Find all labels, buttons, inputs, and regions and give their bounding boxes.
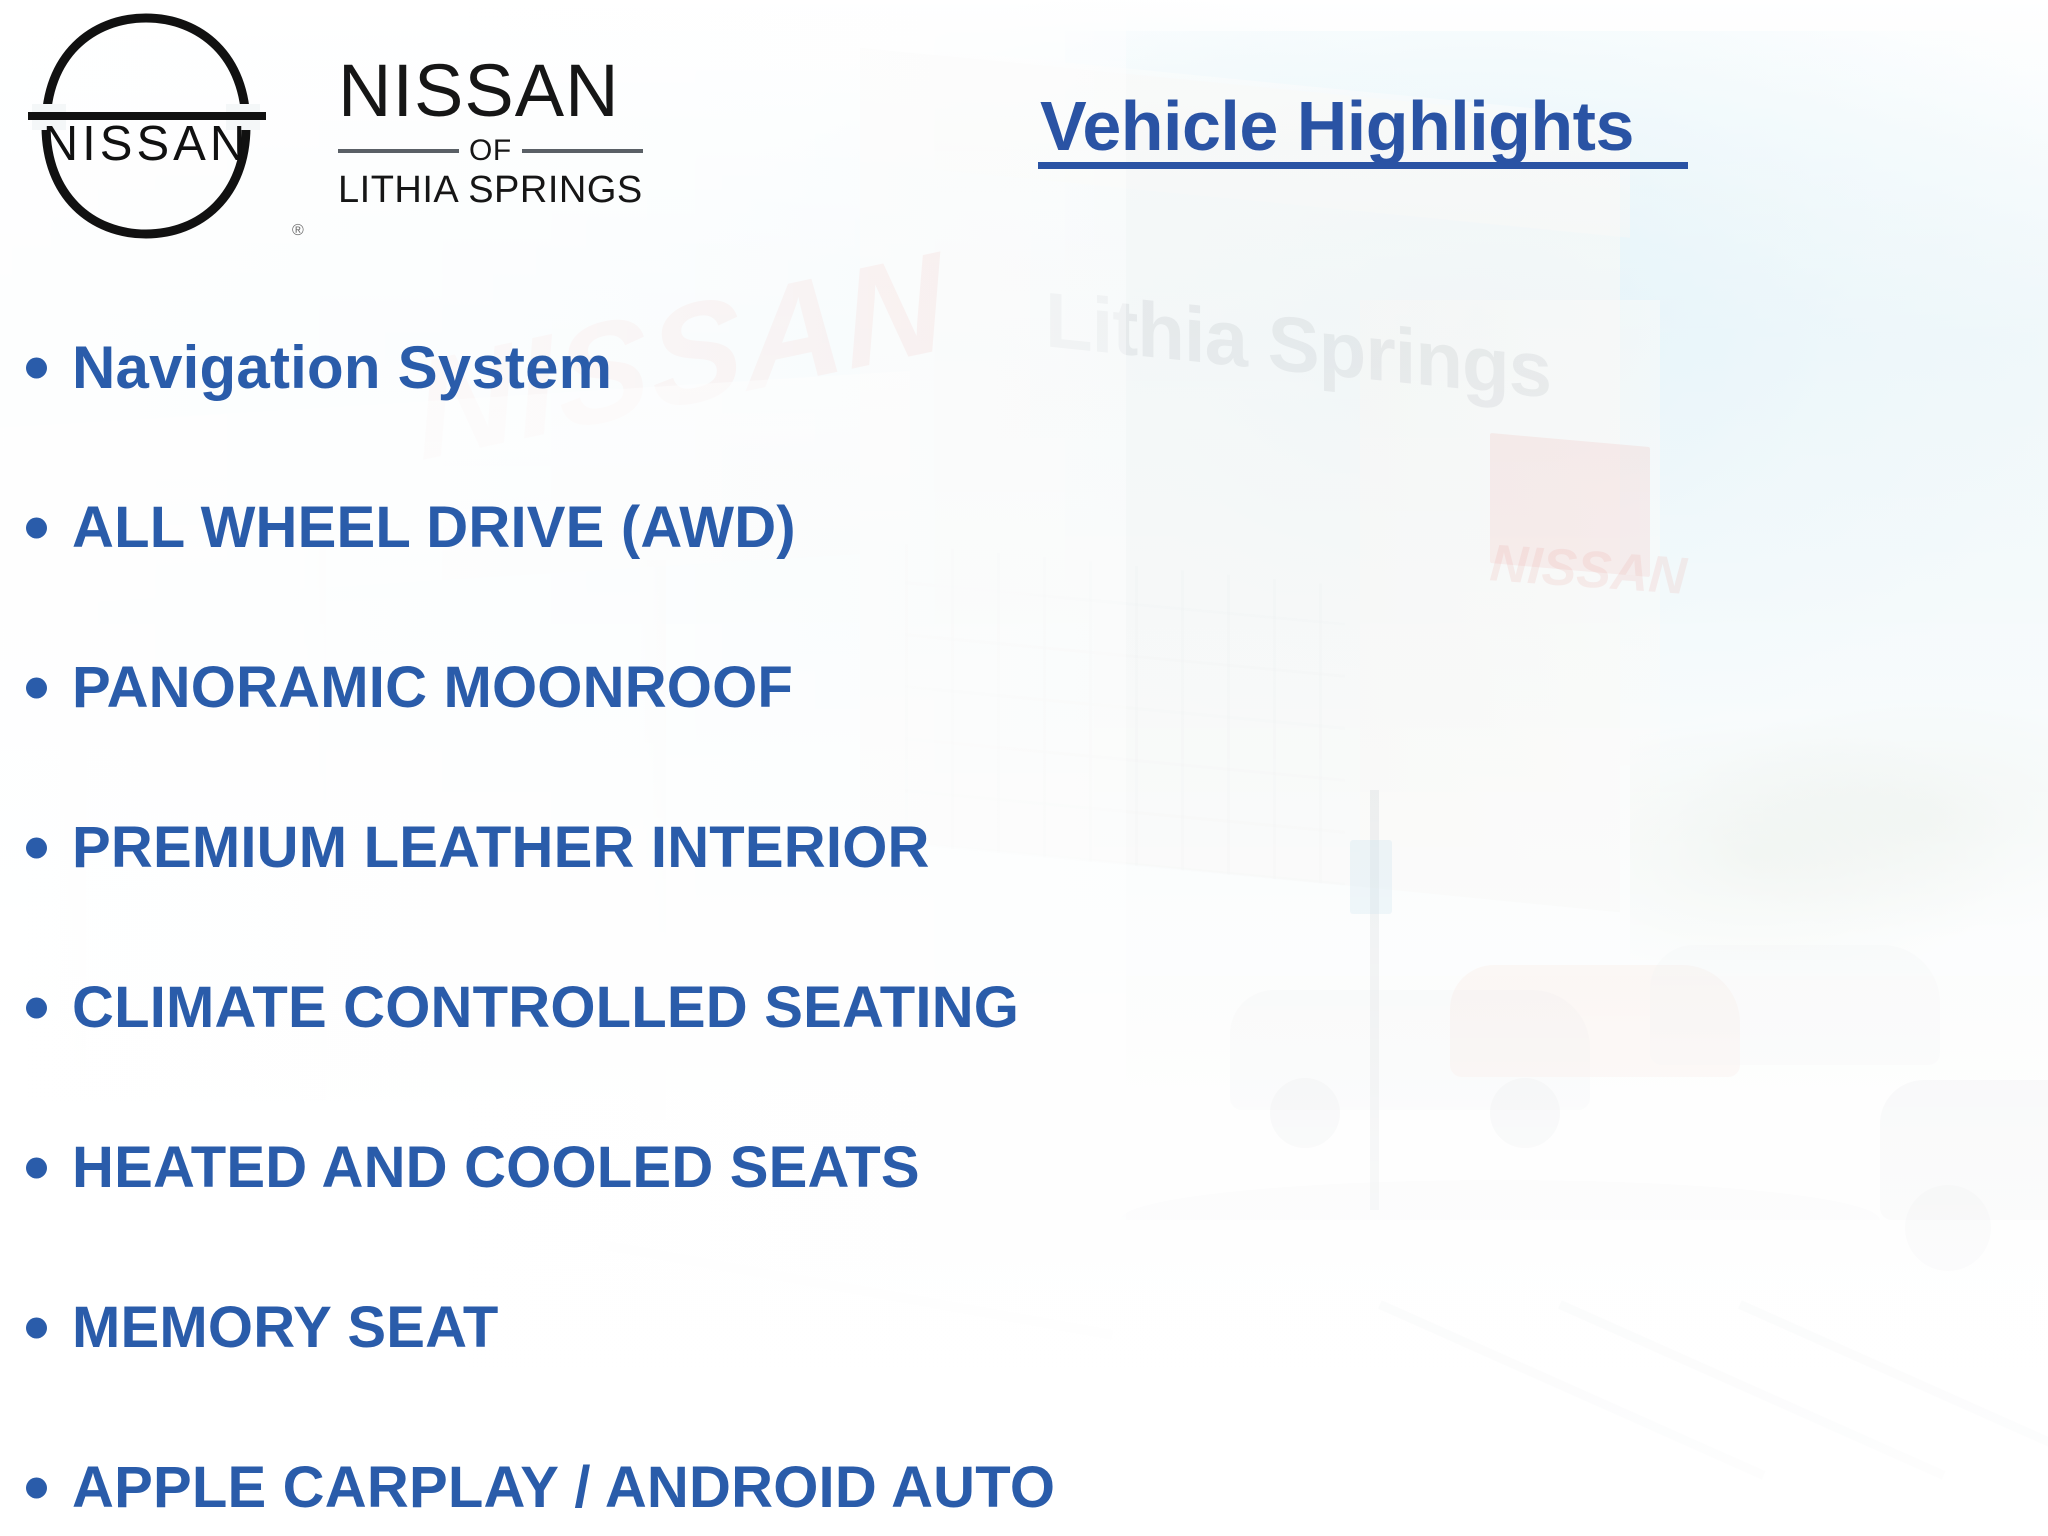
nissan-emblem-icon: NISSAN (24, 8, 324, 243)
highlight-label: HEATED AND COOLED SEATS (72, 1139, 920, 1197)
page-title-underline (1038, 162, 1688, 169)
bullet-icon (26, 1158, 47, 1179)
list-item: MEMORY SEAT (0, 1248, 1450, 1408)
highlight-label: ALL WHEEL DRIVE (AWD) (72, 499, 796, 557)
logo-location-text: LITHIA SPRINGS (338, 171, 643, 209)
list-item: Navigation System (0, 288, 1450, 448)
list-item: CLIMATE CONTROLLED SEATING (0, 928, 1450, 1088)
svg-text:NISSAN: NISSAN (43, 117, 249, 171)
logo-rule-right (522, 149, 643, 153)
highlight-label: Navigation System (72, 338, 612, 398)
highlight-label: PANORAMIC MOONROOF (72, 659, 793, 717)
list-item: APPLE CARPLAY / ANDROID AUTO (0, 1408, 1450, 1536)
highlight-label: PREMIUM LEATHER INTERIOR (72, 819, 930, 877)
bullet-icon (26, 678, 47, 699)
logo-of-row: OF (338, 134, 643, 168)
bullet-icon (26, 518, 47, 539)
bullet-icon (26, 1478, 47, 1499)
vehicle-highlights-slide: Lithia Springs NISSAN NISSAN (0, 0, 2048, 1536)
list-item: PREMIUM LEATHER INTERIOR (0, 768, 1450, 928)
dealer-name-lockup: NISSAN OF LITHIA SPRINGS (338, 56, 643, 208)
logo-brand-text: NISSAN (338, 56, 643, 126)
page-title: Vehicle Highlights (1040, 86, 1634, 166)
list-item: ALL WHEEL DRIVE (AWD) (0, 448, 1450, 608)
vehicle-highlights-list: Navigation SystemALL WHEEL DRIVE (AWD)PA… (0, 288, 1450, 1536)
slide-content: NISSAN NISSAN OF LITHIA SPRINGS ® Vehicl… (0, 0, 2048, 1536)
bullet-icon (26, 998, 47, 1019)
registered-trademark-mark: ® (292, 222, 304, 240)
bullet-icon (26, 358, 47, 379)
highlight-label: MEMORY SEAT (72, 1299, 499, 1357)
bullet-icon (26, 1318, 47, 1339)
bullet-icon (26, 838, 47, 859)
highlight-label: APPLE CARPLAY / ANDROID AUTO (72, 1459, 1055, 1517)
highlight-label: CLIMATE CONTROLLED SEATING (72, 979, 1019, 1037)
dealer-logo: NISSAN NISSAN OF LITHIA SPRINGS (24, 8, 643, 243)
list-item: HEATED AND COOLED SEATS (0, 1088, 1450, 1248)
list-item: PANORAMIC MOONROOF (0, 608, 1450, 768)
logo-connector-text: OF (469, 134, 512, 168)
logo-rule-left (338, 149, 459, 153)
